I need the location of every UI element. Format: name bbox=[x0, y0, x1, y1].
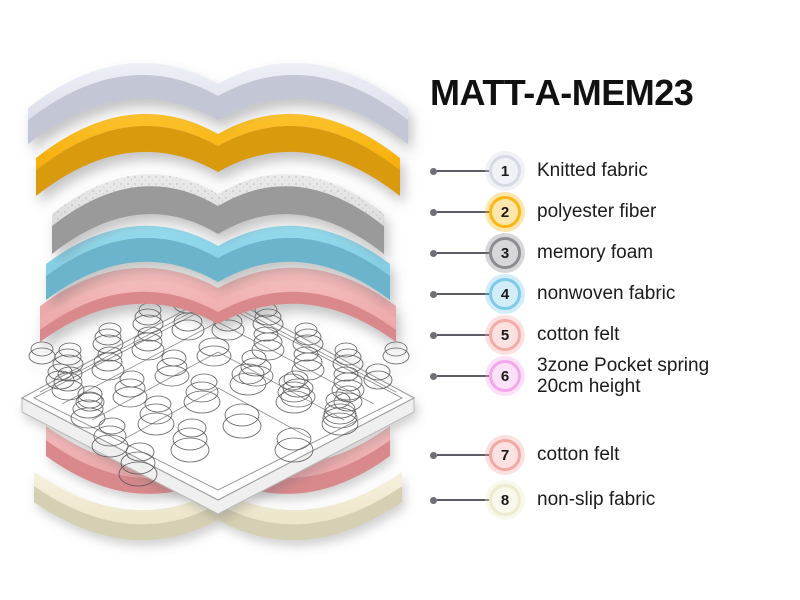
badge-number: 5 bbox=[501, 327, 509, 344]
legend-label-7: cotton felt bbox=[537, 444, 619, 465]
legend-item-3[interactable]: 3 memory foam bbox=[430, 236, 653, 270]
layer-2-polyester-fiber bbox=[36, 114, 400, 196]
badge-number: 3 bbox=[501, 245, 509, 262]
legend-label-1: Knitted fabric bbox=[537, 160, 648, 181]
badge-2[interactable]: 2 bbox=[489, 196, 521, 228]
badge-number: 8 bbox=[501, 492, 509, 509]
legend-label-3: memory foam bbox=[537, 242, 653, 263]
badge-8[interactable]: 8 bbox=[489, 484, 521, 516]
badge-number: 1 bbox=[501, 163, 509, 180]
legend-label-6: 3zone Pocket spring 20cm height bbox=[537, 355, 709, 398]
legend-item-2[interactable]: 2 polyester fiber bbox=[430, 195, 656, 229]
leader-dot-icon bbox=[430, 209, 437, 216]
badge-6[interactable]: 6 bbox=[489, 360, 521, 392]
legend-item-1[interactable]: 1 Knitted fabric bbox=[430, 154, 648, 188]
leader-dot-icon bbox=[430, 291, 437, 298]
leader-dot-icon bbox=[430, 332, 437, 339]
legend-item-8[interactable]: 8 non-slip fabric bbox=[430, 483, 655, 517]
leader-dot-icon bbox=[430, 373, 437, 380]
badge-number: 2 bbox=[501, 204, 509, 221]
badge-4[interactable]: 4 bbox=[489, 278, 521, 310]
badge-3[interactable]: 3 bbox=[489, 237, 521, 269]
legend-item-5[interactable]: 5 cotton felt bbox=[430, 318, 619, 352]
page-title: MATT-A-MEM23 bbox=[430, 72, 693, 114]
leader-dot-icon bbox=[430, 497, 437, 504]
legend-label-5: cotton felt bbox=[537, 324, 619, 345]
badge-number: 6 bbox=[501, 368, 509, 385]
badge-5[interactable]: 5 bbox=[489, 319, 521, 351]
legend-item-7[interactable]: 7 cotton felt bbox=[430, 438, 619, 472]
leader-dot-icon bbox=[430, 250, 437, 257]
badge-7[interactable]: 7 bbox=[489, 439, 521, 471]
legend-label-2: polyester fiber bbox=[537, 201, 656, 222]
diagram-canvas: MATT-A-MEM23 1 Knitted fabric 2 polyeste… bbox=[0, 0, 800, 600]
leader-dot-icon bbox=[430, 452, 437, 459]
legend-item-4[interactable]: 4 nonwoven fabric bbox=[430, 277, 675, 311]
legend-item-6[interactable]: 6 3zone Pocket spring 20cm height bbox=[430, 359, 709, 393]
badge-number: 4 bbox=[501, 286, 509, 303]
badge-number: 7 bbox=[501, 447, 509, 464]
mattress-layer-illustration bbox=[0, 0, 440, 600]
badge-1[interactable]: 1 bbox=[489, 155, 521, 187]
legend-label-4: nonwoven fabric bbox=[537, 283, 675, 304]
leader-dot-icon bbox=[430, 168, 437, 175]
legend: 1 Knitted fabric 2 polyester fiber 3 mem… bbox=[430, 148, 800, 528]
legend-label-8: non-slip fabric bbox=[537, 489, 655, 510]
